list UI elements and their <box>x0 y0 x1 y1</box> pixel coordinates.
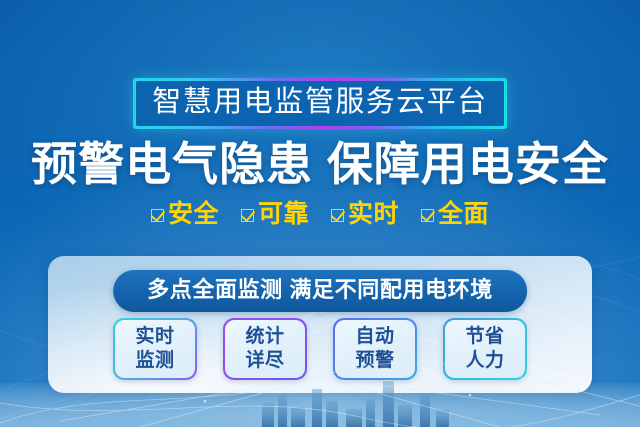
feature-line-2: 人力 <box>465 349 504 373</box>
monitoring-pill: 多点全面监测 满足不同配用电环境 <box>113 270 527 312</box>
check-label: 可靠 <box>258 200 309 228</box>
feature-line-2: 监测 <box>135 349 174 373</box>
monitoring-pill-label: 多点全面监测 满足不同配用电环境 <box>147 276 493 304</box>
feature-box-inner: 实时 监测 <box>115 320 195 378</box>
check-item: 全面 <box>421 200 489 228</box>
feature-check-row: 安全 可靠 实时 全面 <box>0 200 640 228</box>
check-item: 可靠 <box>241 200 309 228</box>
feature-box-row: 实时 监测 统计 详尽 自动 预警 节省 人力 <box>48 318 592 380</box>
feature-box-inner: 节省 人力 <box>445 320 525 378</box>
feature-line-1: 节省 <box>465 325 504 349</box>
feature-box-realtime-monitoring[interactable]: 实时 监测 <box>113 318 197 380</box>
check-label: 安全 <box>168 200 219 228</box>
feature-line-2: 详尽 <box>245 349 284 373</box>
platform-title: 智慧用电监管服务云平台 <box>152 85 488 119</box>
feature-line-2: 预警 <box>355 349 394 373</box>
check-square-icon <box>331 209 344 222</box>
feature-box-inner: 自动 预警 <box>335 320 415 378</box>
check-square-icon <box>151 209 164 222</box>
check-label: 全面 <box>438 200 489 228</box>
feature-line-1: 统计 <box>245 325 284 349</box>
feature-box-inner: 统计 详尽 <box>225 320 305 378</box>
features-card: 多点全面监测 满足不同配用电环境 实时 监测 统计 详尽 自动 预警 <box>48 256 592 393</box>
feature-line-1: 实时 <box>135 325 174 349</box>
title-box-border: 智慧用电监管服务云平台 <box>133 78 507 129</box>
feature-box-labor-saving[interactable]: 节省 人力 <box>443 318 527 380</box>
main-headline: 预警电气隐患 保障用电安全 <box>0 136 640 192</box>
feature-box-detailed-statistics[interactable]: 统计 详尽 <box>223 318 307 380</box>
feature-line-1: 自动 <box>355 325 394 349</box>
title-box-inner: 智慧用电监管服务云平台 <box>136 81 504 126</box>
check-square-icon <box>421 209 434 222</box>
check-item: 安全 <box>151 200 219 228</box>
check-square-icon <box>241 209 254 222</box>
feature-box-automatic-alert[interactable]: 自动 预警 <box>333 318 417 380</box>
check-item: 实时 <box>331 200 399 228</box>
check-label: 实时 <box>348 200 399 228</box>
promo-banner: 智慧用电监管服务云平台 预警电气隐患 保障用电安全 安全 可靠 实时 全面 <box>0 0 640 427</box>
title-box-container: 智慧用电监管服务云平台 <box>0 78 640 129</box>
